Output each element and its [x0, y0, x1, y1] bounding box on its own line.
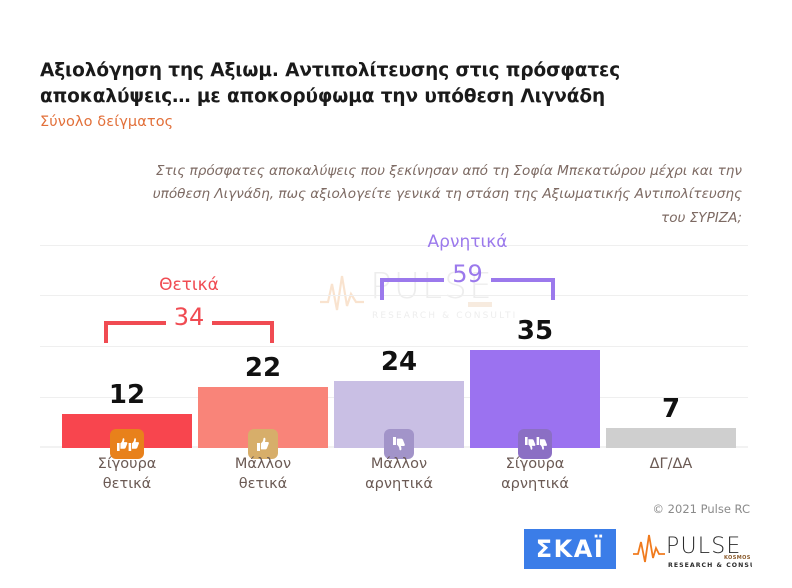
bar-value-label: 22: [198, 355, 328, 381]
category-label-line1: Μάλλον: [198, 455, 328, 475]
chart-category-labels: Σίγουρα θετικά Μάλλον θετικά Μάλλον αρνη…: [62, 455, 748, 505]
footer-logos: ΣΚΑΪ PULSE KOSMOS RESEARCH & CONSULTING: [524, 528, 752, 570]
bar-value-label: 7: [606, 396, 736, 422]
page-subtitle: Σύνολο δείγματος: [40, 114, 660, 130]
page-title: Αξιολόγηση της Αξιωμ. Αντιπολίτευσης στι…: [40, 58, 660, 109]
category-label-line1: Σίγουρα: [62, 455, 192, 475]
pulse-logo: PULSE KOSMOS RESEARCH & CONSULTING: [632, 528, 752, 570]
category-label-mallon-arnitika: Μάλλον αρνητικά: [334, 455, 464, 494]
bar-value-label: 24: [334, 349, 464, 375]
chart-header: Αξιολόγηση της Αξιωμ. Αντιπολίτευσης στι…: [40, 58, 660, 130]
bar-rect: [606, 428, 736, 448]
category-label-line2: θετικά: [62, 475, 192, 495]
category-label-line2: αρνητικά: [334, 475, 464, 495]
category-label-line2: αρνητικά: [470, 475, 600, 495]
skai-logo-text: ΣΚΑΪ: [536, 535, 605, 563]
chart-bars: 12 22: [62, 245, 748, 448]
pulse-logo-subtitle: RESEARCH & CONSULTING: [668, 562, 752, 569]
bar-value-label: 12: [62, 382, 192, 408]
pulse-logo-kosmos: KOSMOS: [724, 555, 751, 561]
survey-question: Στις πρόσφατες αποκαλύψεις που ξεκίνησαν…: [150, 160, 742, 230]
category-label-line2: θετικά: [198, 475, 328, 495]
copyright-text: © 2021 Pulse RC: [653, 502, 750, 516]
category-label-line1: ΔΓ/ΔΑ: [606, 455, 736, 475]
category-label-dg-da: ΔΓ/ΔΑ: [606, 455, 736, 475]
category-label-sigoura-arnitika: Σίγουρα αρνητικά: [470, 455, 600, 494]
category-label-mallon-thetika: Μάλλον θετικά: [198, 455, 328, 494]
chart-plot-area: Θετικά 34 Αρνητικά 59 12: [62, 245, 748, 448]
category-label-line1: Σίγουρα: [470, 455, 600, 475]
category-label-sigoura-thetika: Σίγουρα θετικά: [62, 455, 192, 494]
category-label-line1: Μάλλον: [334, 455, 464, 475]
bar-value-label: 35: [470, 318, 600, 344]
skai-logo: ΣΚΑΪ: [524, 529, 616, 569]
